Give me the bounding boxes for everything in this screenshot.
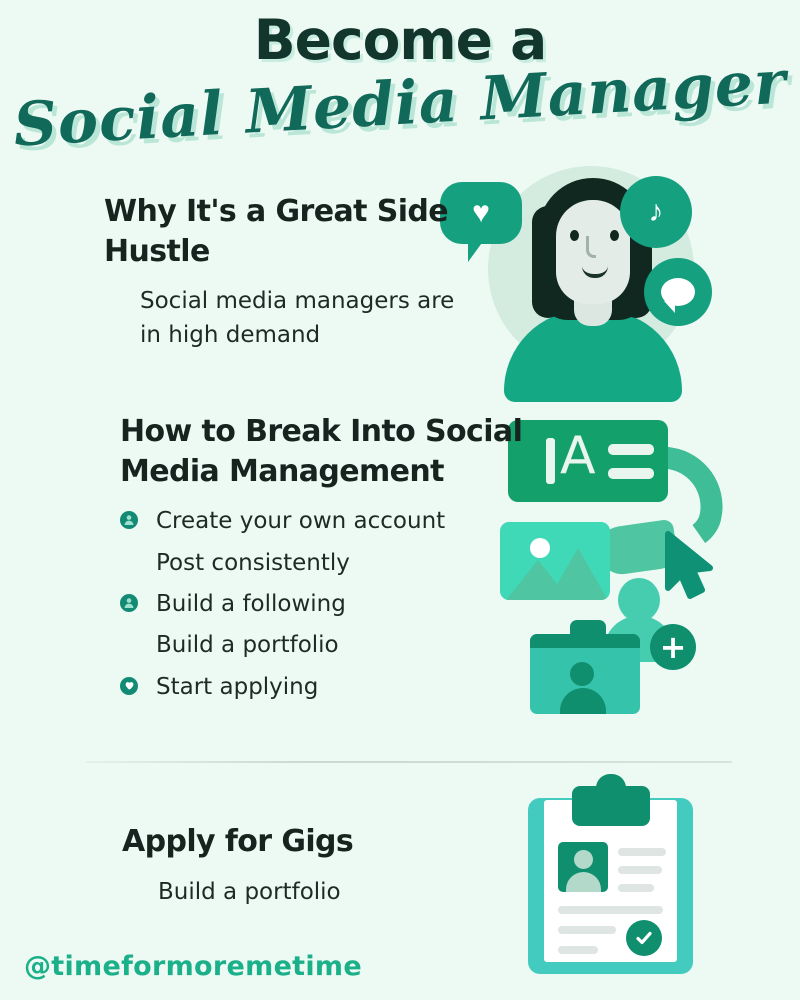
list-item-label: Build a portfolio <box>156 629 339 662</box>
plus-glyph: + <box>660 633 687 661</box>
list-item-label: Build a portfolio <box>158 876 341 909</box>
music-note-icon: ♪ <box>620 176 692 248</box>
chat-shape <box>661 278 695 306</box>
heart-bullet-icon <box>120 677 138 695</box>
resume-clipboard-illustration <box>528 786 708 976</box>
card-text-line <box>608 444 654 455</box>
bullet-dot-icon <box>120 635 138 653</box>
chat-bubble-icon <box>644 258 712 326</box>
list-item: Post consistently <box>120 547 590 580</box>
list-item-label: Build a following <box>156 588 346 621</box>
list-item: Build a following <box>120 588 590 621</box>
list-item-label: Post consistently <box>156 547 350 580</box>
person-bullet-icon <box>120 511 138 529</box>
resume-text-line <box>618 866 662 874</box>
list-item: Social media managers are in high demand <box>104 285 464 352</box>
section-heading: Why It's a Great Side Hustle <box>104 192 464 271</box>
section-why-great-side-hustle: Why It's a Great Side Hustle Social medi… <box>104 192 464 360</box>
resume-text-line <box>558 906 663 914</box>
woman-with-social-badges-illustration: ♥ ♪ <box>432 158 722 398</box>
list-item: Start applying <box>120 671 590 704</box>
person-bullet-icon <box>120 594 138 612</box>
resume-text-line <box>618 884 654 892</box>
bullet-dot-icon <box>104 292 122 310</box>
list-item: Build a portfolio <box>120 629 590 662</box>
cursor-arrow-icon <box>662 530 714 602</box>
section-heading: How to Break Into Social Media Managemen… <box>120 412 590 491</box>
bullet-dot-icon <box>122 883 140 901</box>
bullet-dot-icon <box>120 553 138 571</box>
list-item-label: Social media managers are in high demand <box>140 285 464 352</box>
heart-glyph: ♥ <box>472 198 490 228</box>
resume-text-line <box>558 946 598 954</box>
resume-text-line <box>558 926 616 934</box>
woman-nose <box>586 236 596 258</box>
card-text-line <box>608 468 654 479</box>
resume-photo <box>558 842 608 892</box>
section-how-to-break-into: How to Break Into Social Media Managemen… <box>120 412 590 712</box>
bullet-list: Build a portfolio <box>122 876 462 909</box>
woman-eye-right <box>610 230 619 241</box>
section-heading: Apply for Gigs <box>122 822 462 862</box>
music-glyph: ♪ <box>649 197 664 227</box>
bullet-list: Create your own account Post consistentl… <box>120 505 590 704</box>
list-item-label: Create your own account <box>156 505 445 538</box>
social-handle: @timeformoremetime <box>24 951 362 982</box>
poster-title: Become a Social Media Manager <box>0 0 800 134</box>
list-item: Create your own account <box>120 505 590 538</box>
section-divider <box>86 761 732 763</box>
check-circle-icon <box>626 920 662 956</box>
list-item: Build a portfolio <box>122 876 462 909</box>
bullet-list: Social media managers are in high demand <box>104 285 464 352</box>
section-apply-for-gigs: Apply for Gigs Build a portfolio <box>122 822 462 917</box>
clipboard-clip <box>572 786 650 826</box>
resume-avatar-body <box>566 872 601 892</box>
list-item-label: Start applying <box>156 671 318 704</box>
woman-eye-left <box>570 230 579 241</box>
add-person-plus-icon: + <box>650 624 696 670</box>
resume-avatar-head <box>574 850 593 869</box>
infographic-poster: Become a Social Media Manager ♥ ♪ Why It… <box>0 0 800 1000</box>
resume-text-line <box>618 848 666 856</box>
